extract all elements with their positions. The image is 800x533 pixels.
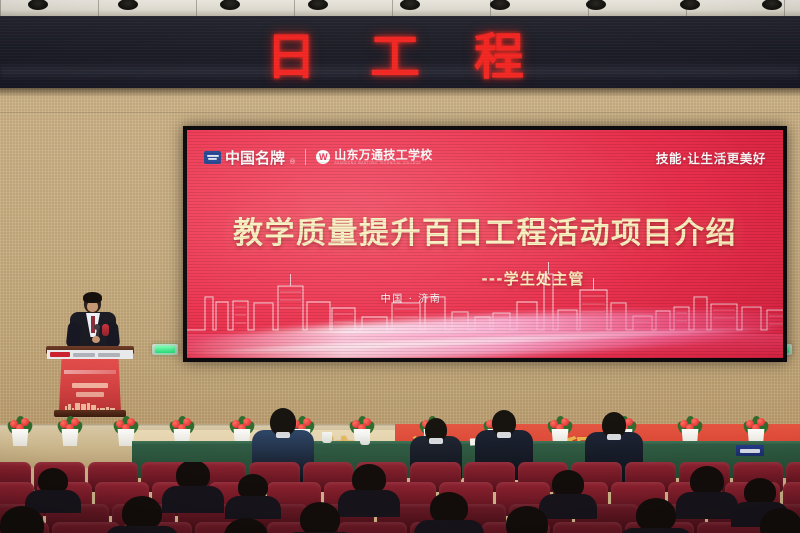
auditorium-seat: [553, 522, 622, 533]
slide-header: 中国名牌 ® W 山东万通技工学校 SHANDONG WANTONG TECHN…: [204, 146, 766, 168]
planter-pot: [60, 429, 80, 446]
podium-logo-strip: [47, 350, 133, 359]
audience-shoulders: [539, 494, 598, 519]
flower-planter: [6, 416, 34, 446]
presentation-slide: 中国名牌 ® W 山东万通技工学校 SHANDONG WANTONG TECHN…: [187, 130, 783, 358]
podium-logo-school-2: [98, 353, 120, 357]
ceiling-panel-seam: [196, 0, 197, 16]
ceiling-downlight-icon: [400, 0, 420, 10]
ceiling-panel-seam: [392, 0, 393, 16]
ceiling-downlight-icon: [586, 0, 606, 10]
led-banner-char: 日: [266, 17, 326, 88]
banner-sheen: [0, 62, 800, 80]
podium-headline-text: [64, 370, 116, 374]
school-name-en: SHANDONG WANTONG TECHNICAL COLLEGE: [334, 162, 432, 166]
brand-school: W 山东万通技工学校 SHANDONG WANTONG TECHNICAL CO…: [316, 149, 432, 166]
led-banner: 日工程: [0, 16, 800, 88]
podium-slogan-line-2: [76, 392, 104, 397]
flower-planter: [56, 416, 84, 446]
led-banner-char: 程: [474, 17, 534, 88]
wall-top-shadow: [0, 88, 800, 97]
planter-pot: [10, 429, 30, 446]
led-banner-char: 工: [370, 17, 430, 88]
tea-cup: [360, 434, 370, 445]
exit-sign-left: [152, 344, 178, 355]
brand-china-famous: 中国名牌 ®: [204, 147, 295, 168]
auditorium-seat: [338, 522, 407, 533]
registered-mark-icon: ®: [290, 159, 295, 168]
audience-shoulders: [105, 526, 179, 533]
podium-and-speaker: [36, 288, 144, 420]
ceiling-downlight-icon: [762, 0, 782, 10]
podium-slogan-line-1: [72, 383, 108, 388]
guest-collar: [276, 432, 290, 438]
microphone-head-icon: [94, 324, 100, 330]
slide-bottom-wash: [187, 334, 783, 358]
wall-seam: [0, 112, 800, 114]
tea-cup: [322, 432, 332, 443]
audience-shoulders: [225, 496, 280, 519]
audience-shoulders: [162, 486, 225, 513]
school-name-cn: 山东万通技工学校: [334, 149, 432, 161]
audience-head: [760, 508, 800, 533]
header-divider: [305, 149, 306, 165]
auditorium-photo: 日工程 中国名牌 ® W 山东万通技工学校 SHAN: [0, 0, 800, 533]
guest-collar: [497, 432, 511, 438]
audience-shoulders: [338, 490, 401, 517]
speaker-hair: [83, 292, 102, 303]
podium-logo-school: [73, 353, 95, 357]
ceiling-downlight-icon: [220, 0, 240, 10]
slide-title: 教学质量提升百日工程活动项目介绍: [187, 208, 783, 252]
audience-shoulders: [619, 528, 693, 533]
ceiling-downlight-icon: [490, 0, 510, 10]
brand-badge-icon: [204, 151, 221, 164]
slide-slogan: 技能·让生活更美好: [656, 148, 766, 167]
exit-sign-lamp-icon: [155, 346, 175, 353]
school-logo-icon: W: [316, 150, 330, 164]
audience-head: [300, 502, 340, 533]
audience-seating: [0, 462, 800, 533]
led-screen-frame: 中国名牌 ® W 山东万通技工学校 SHANDONG WANTONG TECHN…: [183, 126, 787, 362]
ceiling-downlight-icon: [118, 0, 138, 10]
ceiling-downlight-icon: [680, 0, 700, 10]
ceiling-panel-seam: [98, 0, 99, 16]
name-placard: [736, 445, 764, 456]
podium-skyline-icon: [64, 401, 116, 410]
speaker-hand: [92, 336, 100, 343]
brand-china-famous-label: 中国名牌: [225, 147, 285, 168]
podium-logo-china-famous: [50, 352, 70, 357]
audience-head: [122, 496, 162, 530]
led-banner-text: 日工程: [0, 20, 800, 86]
ceiling-downlight-icon: [28, 0, 48, 10]
guest-collar: [607, 434, 621, 440]
ceiling: [0, 0, 800, 16]
audience-head: [636, 498, 676, 532]
ceiling-panel-seam: [0, 0, 1, 16]
ceiling-panel-seam: [784, 0, 785, 16]
speaker-corsage: [102, 324, 109, 336]
audience-shoulders: [676, 492, 739, 519]
ceiling-downlight-icon: [308, 0, 328, 10]
audience-shoulders: [414, 520, 484, 533]
podium-skyline-shape: [64, 403, 116, 410]
ceiling-panel-seam: [294, 0, 295, 16]
guest-collar: [429, 438, 443, 444]
